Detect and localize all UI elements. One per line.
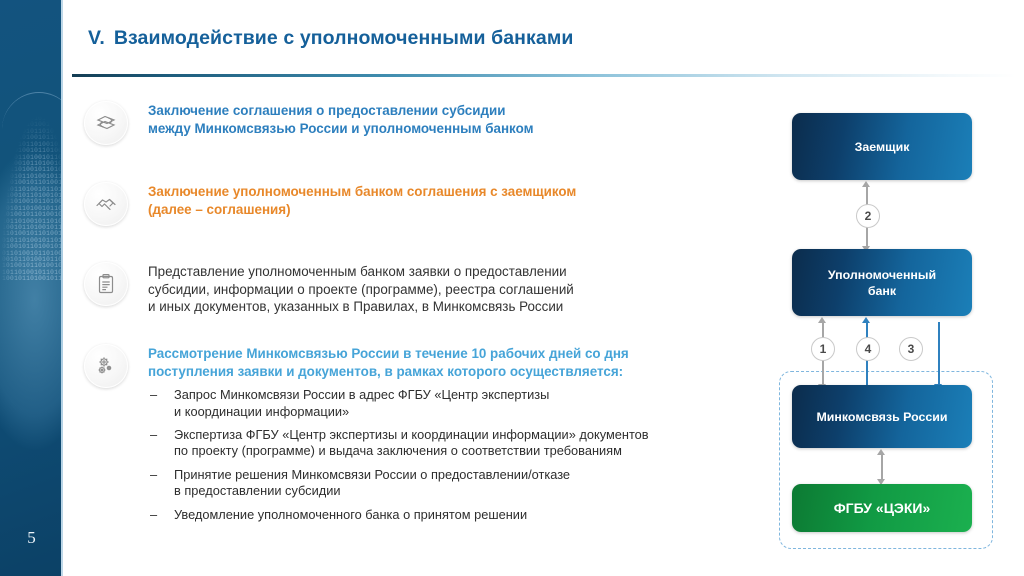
page-title: V.Взаимодействие с уполномоченными банка… <box>88 27 573 50</box>
list-item: – Принятие решения Минкомсвязи России о … <box>148 467 649 500</box>
connector-3-line <box>938 322 940 385</box>
content-block-2: Заключение уполномоченным банком соглаше… <box>84 182 744 226</box>
bullet-3-line-1: Принятие решения Минкомсвязи России о пр… <box>174 467 570 482</box>
connector-4-arrowhead-up <box>862 317 870 323</box>
bullet-1-line-2: и координации информации» <box>174 404 349 419</box>
node-borrower-label: Заемщик <box>855 139 910 155</box>
content-block-3: Представление уполномоченным банком заяв… <box>84 262 764 316</box>
decorative-sidebar: 0110100101110010010011010100101100101101… <box>0 0 63 576</box>
block-4-line-2: поступления заявки и документов, в рамка… <box>148 363 649 381</box>
node-bank-line-2: банк <box>868 284 896 298</box>
bullet-dash: – <box>150 467 157 483</box>
connector-1-arrowhead-up <box>818 317 826 323</box>
block-1-line-1: Заключение соглашения о предоставлении с… <box>148 102 533 120</box>
step-4-number: 4 <box>865 342 872 356</box>
step-1-number: 1 <box>820 342 827 356</box>
block-3-line-1: Представление уполномоченным банком заяв… <box>148 263 574 281</box>
block-1-line-2: между Минкомсвязью России и уполномоченн… <box>148 120 533 138</box>
list-item: – Уведомление уполномоченного банка о пр… <box>148 507 649 523</box>
list-item: – Экспертиза ФГБУ «Центр экспертизы и ко… <box>148 427 649 460</box>
step-circle-3: 3 <box>899 337 923 361</box>
content-block-4: Рассмотрение Минкомсвязью России в течен… <box>84 344 784 523</box>
step-circle-1: 1 <box>811 337 835 361</box>
content-block-1: Заключение соглашения о предоставлении с… <box>84 101 724 145</box>
bullet-dash: – <box>150 507 157 523</box>
step-circle-4: 4 <box>856 337 880 361</box>
bullet-dash: – <box>150 387 157 403</box>
block-4-bullet-list: – Запрос Минкомсвязи России в адрес ФГБУ… <box>148 387 649 523</box>
block-4-line-1: Рассмотрение Минкомсвязью России в течен… <box>148 345 649 363</box>
node-fgbu-label: ФГБУ «ЦЭКИ» <box>834 500 931 516</box>
block-2-line-2: (далее – соглашения) <box>148 201 576 219</box>
gears-icon <box>84 344 128 388</box>
block-3-line-2: субсидии, информации о проекте (программ… <box>148 281 574 299</box>
sidebar-edge <box>61 0 63 576</box>
bullet-2-line-2: по проекту (программе) и выдача заключен… <box>174 443 622 458</box>
page-number: 5 <box>0 528 63 548</box>
block-3-line-3: и иных документов, указанных в Правилах,… <box>148 298 574 316</box>
list-item: – Запрос Минкомсвязи России в адрес ФГБУ… <box>148 387 649 420</box>
content-block-1-text: Заключение соглашения о предоставлении с… <box>148 101 533 137</box>
bullet-dash: – <box>150 427 157 443</box>
clipboard-icon <box>84 262 128 306</box>
title-text: Взаимодействие с уполномоченными банками <box>114 27 574 49</box>
step-2-number: 2 <box>865 209 872 223</box>
header-divider <box>72 74 1016 77</box>
content-block-2-text: Заключение уполномоченным банком соглаше… <box>148 182 576 218</box>
node-borrower[interactable]: Заемщик <box>792 113 972 180</box>
step-circle-2: 2 <box>856 204 880 228</box>
node-minkomsvyaz-label: Минкомсвязь России <box>816 409 947 425</box>
node-authorized-bank-label: Уполномоченный банк <box>828 267 936 299</box>
content-block-3-text: Представление уполномоченным банком заяв… <box>148 262 574 316</box>
block-2-line-1: Заключение уполномоченным банком соглаше… <box>148 183 576 201</box>
connector-ministry-fgbu-line <box>881 454 883 480</box>
connector-2-arrowhead-up <box>862 181 870 187</box>
step-3-number: 3 <box>908 342 915 356</box>
node-authorized-bank[interactable]: Уполномоченный банк <box>792 249 972 316</box>
node-minkomsvyaz[interactable]: Минкомсвязь России <box>792 385 972 448</box>
bullet-1-line-1: Запрос Минкомсвязи России в адрес ФГБУ «… <box>174 387 549 402</box>
title-numeral: V. <box>88 27 105 49</box>
agreement-exchange-icon <box>84 101 128 145</box>
node-bank-line-1: Уполномоченный <box>828 268 936 282</box>
handshake-icon <box>84 182 128 226</box>
content-block-4-text: Рассмотрение Минкомсвязью России в течен… <box>148 344 649 523</box>
connector-ministry-fgbu-arrowhead-up <box>877 449 885 455</box>
bullet-2-line-1: Экспертиза ФГБУ «Центр экспертизы и коор… <box>174 427 649 442</box>
node-fgbu[interactable]: ФГБУ «ЦЭКИ» <box>792 484 972 532</box>
bullet-4-line-1: Уведомление уполномоченного банка о прин… <box>174 507 527 522</box>
bullet-3-line-2: в предоставлении субсидии <box>174 483 341 498</box>
